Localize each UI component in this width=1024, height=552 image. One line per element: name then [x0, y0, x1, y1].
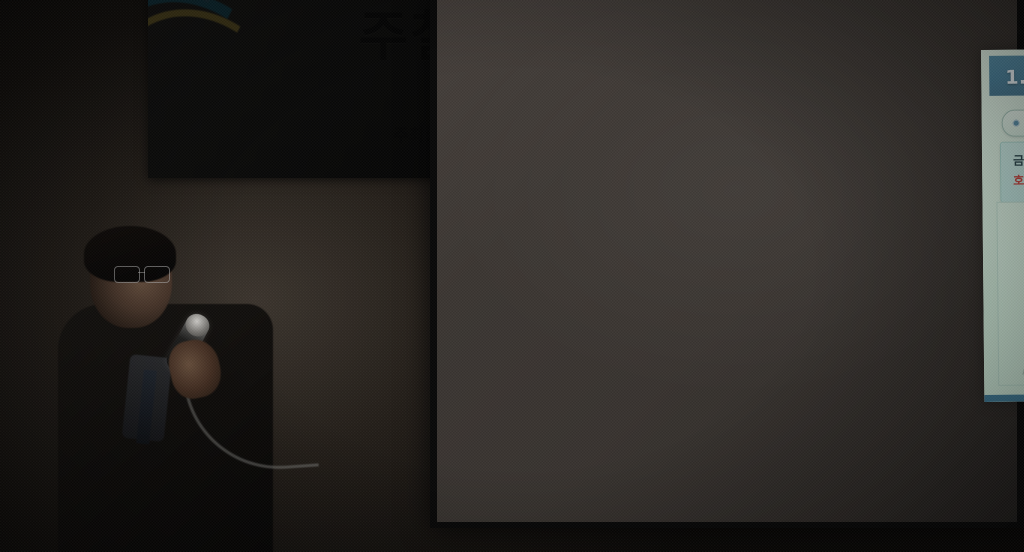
body-seg-1: 금융회사가	[1013, 153, 1024, 168]
banner-shadow-overlay	[148, 0, 448, 178]
eyeglasses-icon	[114, 266, 172, 282]
lens-right	[144, 266, 170, 283]
background-event-banner: 주철 주최: (사)재	[148, 0, 448, 178]
bullet-icon	[1013, 119, 1020, 126]
presenter	[58, 228, 318, 552]
presentation-slide: 1. 예금보험공사 업무 개요 설립목적 및 기능 금융회사가 영업정지 등으로…	[981, 46, 1024, 402]
slide-title: 1. 예금보험공사 업무 개요	[989, 60, 1024, 89]
projection-screen: 1. 예금보험공사 업무 개요 설립목적 및 기능 금융회사가 영업정지 등으로…	[437, 0, 1017, 522]
slide-body-text: 금융회사가 영업정지 등으로 고객의 예금을 지급하지 못하게 될 경우, 예금…	[1013, 148, 1024, 192]
conference-room-photo: 주철 주최: (사)재 1. 예금보험공사 업무 개요 설립목적 및 기능 금융…	[0, 0, 1024, 552]
projector-glow	[437, 0, 1017, 522]
slide-callout-box: 금융회사가 영업정지 등으로 고객의 예금을 지급하지 못하게 될 경우, 예금…	[1000, 138, 1024, 203]
skyscraper-watermark-icon	[1008, 208, 1024, 377]
slide-section-badge: 설립목적 및 기능	[1002, 109, 1024, 137]
lens-left	[114, 266, 140, 283]
slide-title-bar: 1. 예금보험공사 업무 개요	[989, 52, 1024, 96]
slide-diagram: 예금대지급 예금보험료 납부 예금지급불가	[996, 198, 1024, 386]
glasses-bridge	[138, 272, 145, 273]
